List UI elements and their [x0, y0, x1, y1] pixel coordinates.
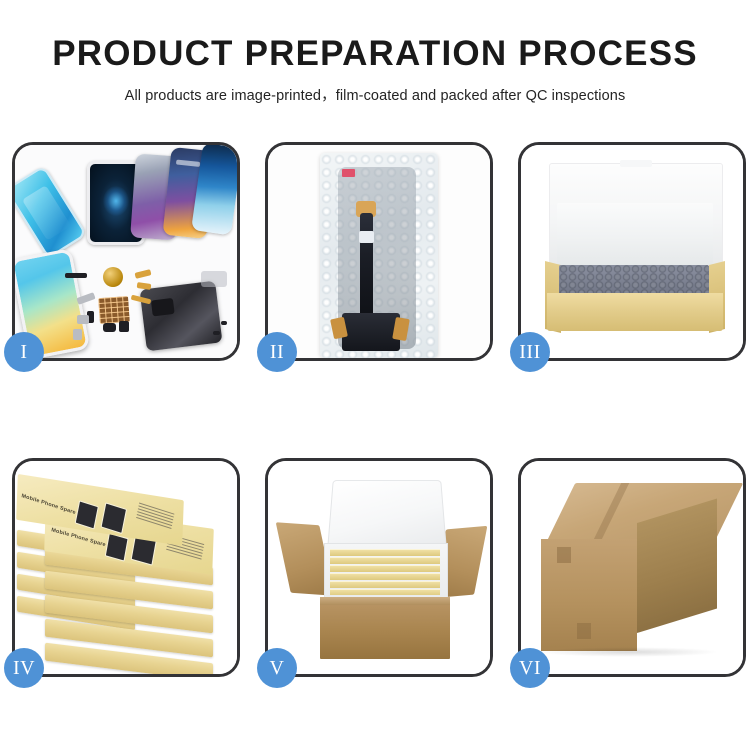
process-step-panel-1[interactable]: I — [12, 142, 240, 361]
flex-cable-base — [342, 313, 400, 351]
carton-tape-mark-top — [557, 547, 571, 563]
kraft-box-front — [547, 293, 723, 331]
step-5-image — [268, 461, 490, 674]
carton-shadow — [539, 647, 719, 657]
box-print-thumbnail — [105, 533, 129, 562]
process-step-panel-2[interactable]: II — [265, 142, 493, 361]
box-print-thumbnail — [75, 500, 99, 529]
vibrator-motor-part — [77, 315, 89, 324]
screw-part-1 — [213, 331, 220, 335]
carton-front-panel — [320, 597, 450, 659]
box-print-textblock — [136, 502, 175, 530]
red-qc-sticker — [342, 169, 355, 177]
tool-part — [201, 271, 227, 287]
foam-lid — [327, 480, 447, 551]
chip-array-part — [98, 296, 130, 324]
process-step-panel-3[interactable]: III — [518, 142, 746, 361]
step-badge-6: VI — [510, 648, 550, 688]
step-6-image — [521, 461, 743, 674]
sim-tray-part — [73, 329, 82, 340]
step-badge-2: II — [257, 332, 297, 372]
box-print-thumbnail — [101, 502, 128, 534]
process-step-panel-5[interactable]: V — [265, 458, 493, 677]
step-badge-5: V — [257, 648, 297, 688]
step-3-image — [521, 145, 743, 358]
foam-sheet — [557, 203, 713, 265]
carton-tape-mark-bottom — [577, 623, 591, 639]
page-title: PRODUCT PREPARATION PROCESS — [0, 36, 750, 73]
step-badge-4: IV — [4, 648, 44, 688]
driver-ic — [359, 231, 374, 243]
step-1-image — [15, 145, 237, 358]
step-badge-1: I — [4, 332, 44, 372]
camera-module-part — [103, 323, 116, 332]
step-badge-3: III — [510, 332, 550, 372]
speaker-coil-part — [103, 267, 123, 287]
page-header: PRODUCT PREPARATION PROCESS All products… — [0, 0, 750, 105]
button-part — [119, 321, 129, 332]
process-step-grid: I II III — [12, 142, 740, 677]
step-2-image — [268, 145, 490, 358]
packed-boxes — [330, 549, 440, 595]
phone-back-cover — [140, 281, 223, 352]
screw-part-2 — [221, 321, 227, 325]
bubble-wrap-package — [320, 153, 438, 358]
page-subtitle: All products are image-printed，film-coat… — [0, 84, 750, 105]
process-step-panel-4[interactable]: Mobile Phone Spare Parts Mobile Phone Sp… — [12, 458, 240, 677]
step-4-image: Mobile Phone Spare Parts Mobile Phone Sp… — [15, 461, 237, 674]
earpiece-part — [65, 273, 87, 278]
flex-cable — [360, 213, 373, 318]
process-step-panel-6[interactable]: VI — [518, 458, 746, 677]
